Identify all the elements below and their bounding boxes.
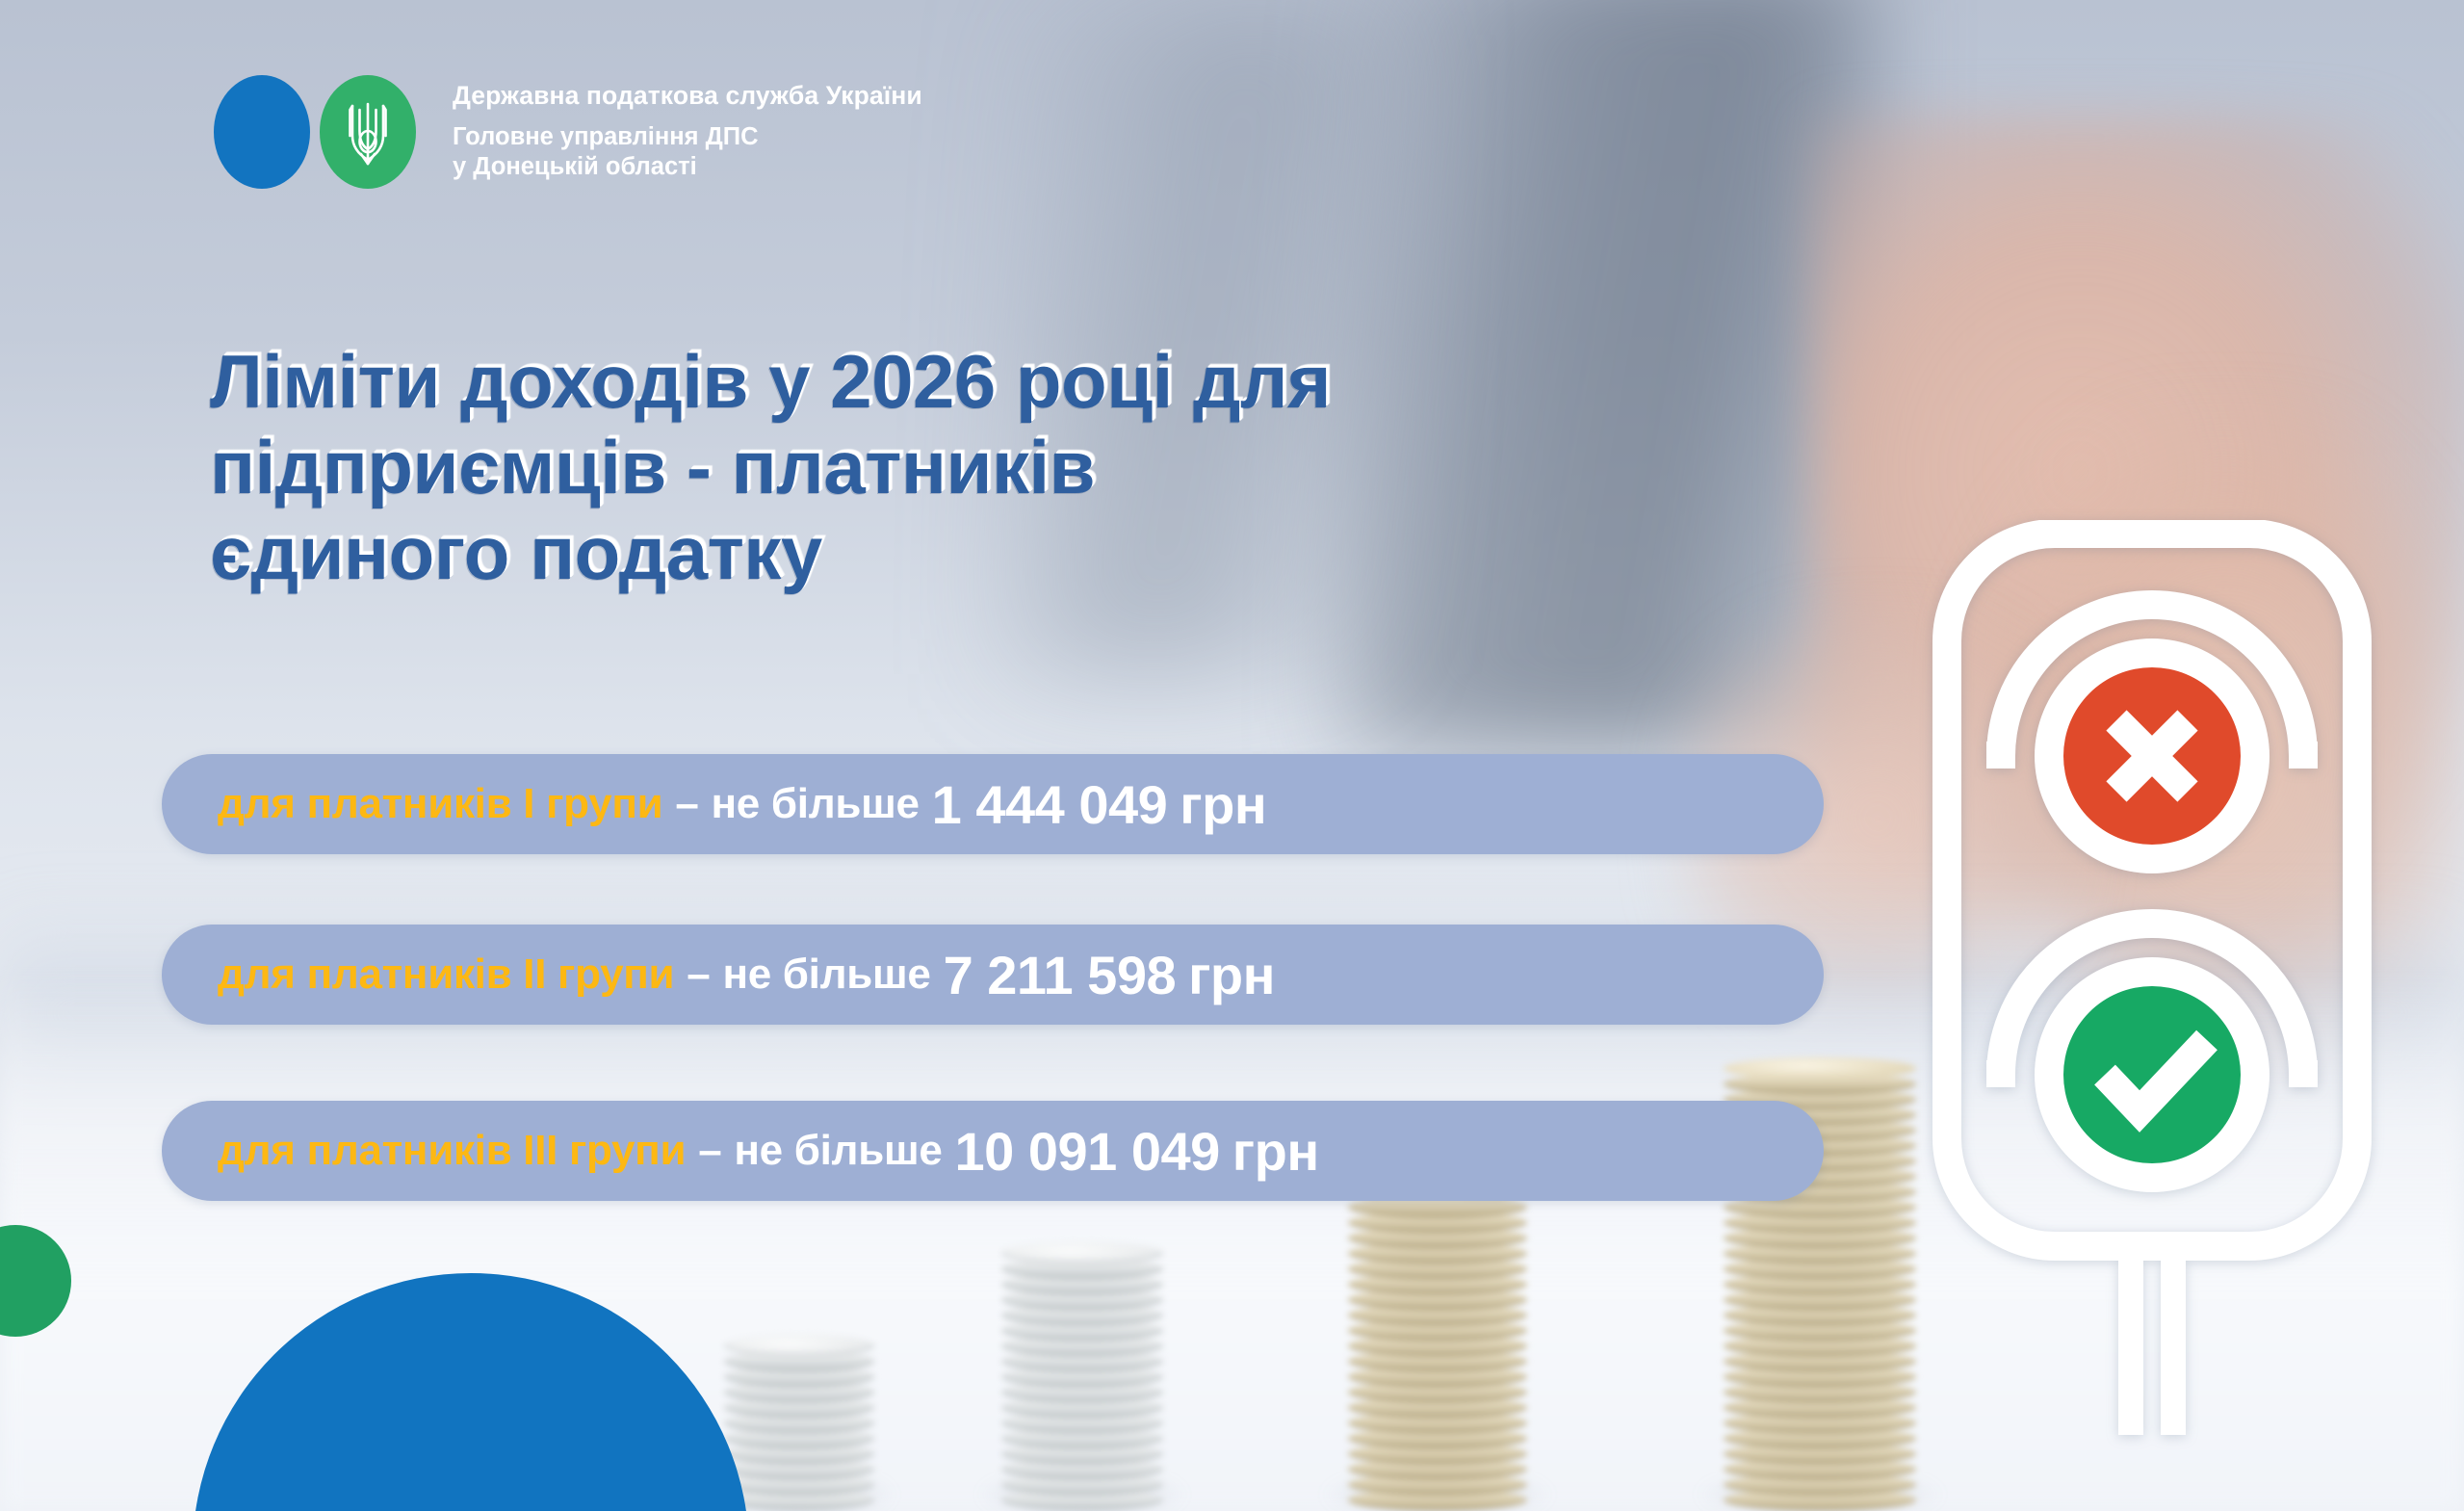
limit-amount: 1 444 049 xyxy=(932,773,1168,836)
coin xyxy=(1724,1057,1916,1080)
logo-marks xyxy=(214,75,416,189)
limit-row-group-2: для платників II групи – не більше 7 211… xyxy=(162,925,1824,1025)
limit-connector: – xyxy=(698,1127,721,1175)
hood-top-left-tab xyxy=(1986,742,2015,769)
limit-connector: – xyxy=(675,780,698,828)
hood-top-right-tab xyxy=(2289,742,2318,769)
limit-qualifier: не більше xyxy=(722,951,930,999)
org-name-line: Державна податкова служба України xyxy=(453,83,922,109)
organisation-text: Державна податкова служба України Головн… xyxy=(453,83,922,182)
limit-currency: грн xyxy=(1180,773,1266,836)
limit-group-label: для платників III групи xyxy=(218,1127,686,1175)
organisation-logo: Державна податкова служба України Головн… xyxy=(214,75,922,189)
limit-row-group-1: для платників I групи – не більше 1 444 … xyxy=(162,754,1824,854)
traffic-light-svg xyxy=(1926,520,2378,1445)
logo-blue-circle-icon xyxy=(214,75,310,189)
coin xyxy=(1001,1242,1163,1264)
traffic-light-post xyxy=(2161,1233,2186,1435)
limit-amount: 10 091 049 xyxy=(955,1120,1220,1183)
page-title: Ліміти доходів у 2026 році для підприємц… xyxy=(210,339,1905,596)
limit-currency: грн xyxy=(1232,1120,1319,1183)
limit-qualifier: не більше xyxy=(734,1127,942,1175)
coin-stack-2 xyxy=(1001,1253,1163,1511)
limit-qualifier: не більше xyxy=(712,780,920,828)
coin xyxy=(724,1335,874,1357)
hood-bottom-left-tab xyxy=(1986,1060,2015,1087)
coin-stack-1 xyxy=(724,1336,874,1511)
traffic-light-icon xyxy=(1926,520,2378,1445)
hood-bottom-right-tab xyxy=(2289,1060,2318,1087)
traffic-light-post xyxy=(2118,1233,2143,1435)
org-department-line: Головне управління ДПС у Донецькій облас… xyxy=(453,122,922,181)
green-check-icon xyxy=(2063,986,2241,1163)
limit-group-label: для платників II групи xyxy=(218,951,674,999)
limit-amount: 7 211 598 xyxy=(944,944,1177,1006)
limit-row-group-3: для платників III групи – не більше 10 0… xyxy=(162,1101,1824,1201)
infographic-poster: Державна податкова служба України Головн… xyxy=(0,0,2464,1511)
coin-stack-3 xyxy=(1348,1193,1527,1511)
limit-currency: грн xyxy=(1188,944,1275,1006)
limit-group-label: для платників I групи xyxy=(218,780,662,828)
ukraine-trident-icon xyxy=(320,75,416,189)
limit-connector: – xyxy=(687,951,710,999)
